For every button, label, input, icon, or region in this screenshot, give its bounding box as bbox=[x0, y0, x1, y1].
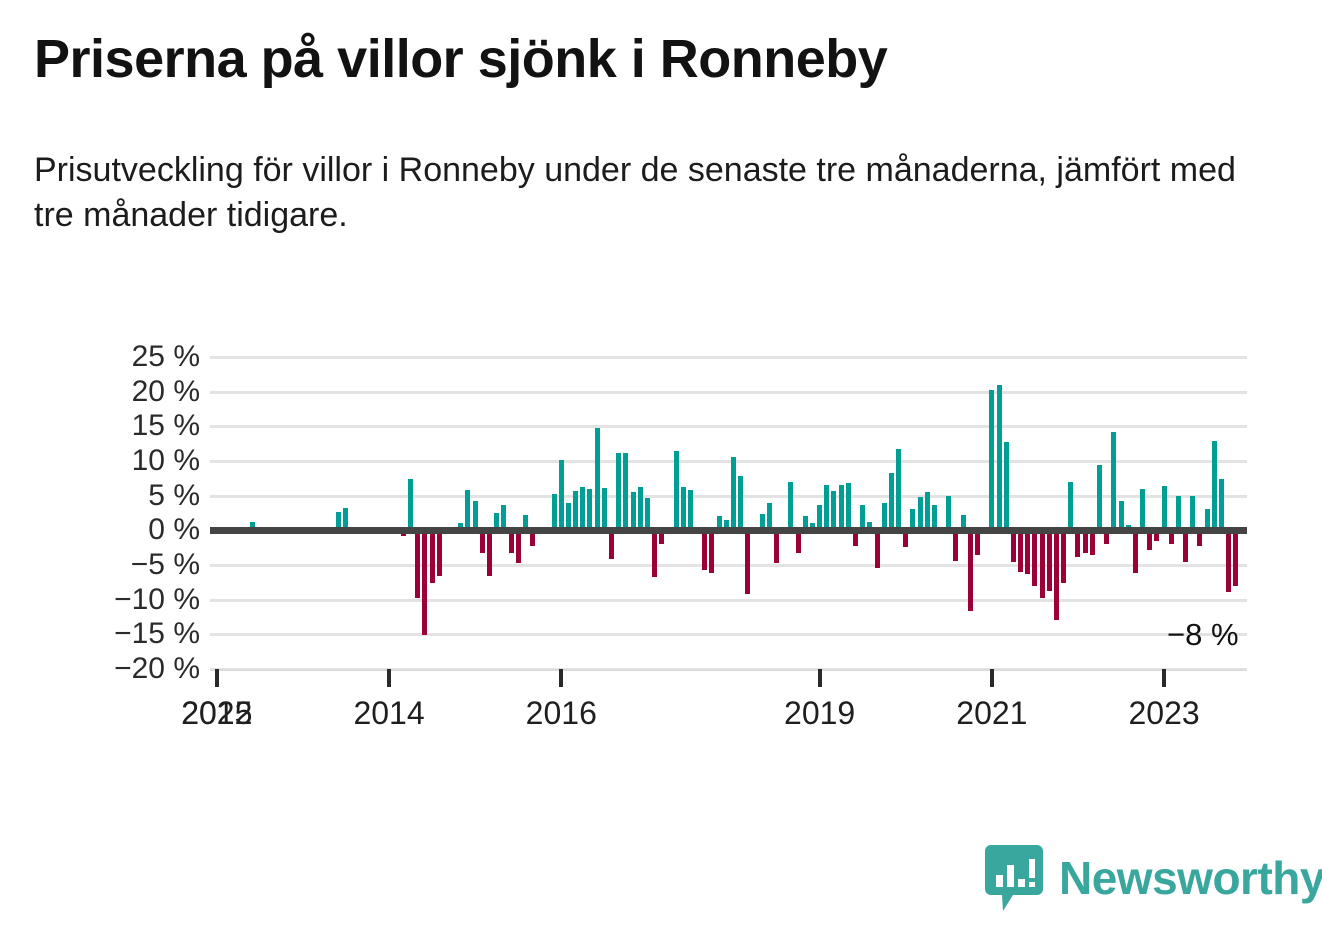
x-axis-tick bbox=[990, 669, 994, 687]
bar bbox=[1040, 530, 1045, 598]
y-axis-tick-label: 15 % bbox=[132, 411, 200, 441]
bar bbox=[674, 451, 679, 531]
bar bbox=[587, 489, 592, 531]
x-axis-tick-label: 2023 bbox=[1129, 695, 1200, 732]
bar bbox=[831, 491, 836, 531]
y-axis-tick-label: 10 % bbox=[132, 446, 200, 476]
bar bbox=[1133, 530, 1138, 572]
bar bbox=[638, 487, 643, 530]
y-axis-tick-label: 0 % bbox=[148, 515, 200, 545]
y-axis-labels: 25 %20 %15 %10 %5 %0 %−5 %−10 %−15 %−20 … bbox=[60, 357, 200, 669]
page-title: Priserna på villor sjönk i Ronneby bbox=[34, 28, 1284, 90]
bar bbox=[623, 453, 628, 531]
bar bbox=[1068, 482, 1073, 531]
logo-wordmark: Newsworthy bbox=[1059, 855, 1322, 901]
bar bbox=[1140, 489, 1145, 530]
chart-container: 25 %20 %15 %10 %5 %0 %−5 %−10 %−15 %−20 … bbox=[0, 340, 1322, 740]
x-axis: 2012201420162019202120232025 bbox=[210, 669, 1247, 671]
bar-series bbox=[210, 357, 1247, 669]
bar bbox=[681, 487, 686, 530]
bar bbox=[953, 530, 958, 561]
bar bbox=[408, 479, 413, 530]
bar bbox=[473, 501, 478, 531]
chart-subtitle: Prisutveckling för villor i Ronneby unde… bbox=[34, 90, 1249, 238]
bar bbox=[430, 530, 435, 583]
bar bbox=[1025, 530, 1030, 574]
bar bbox=[487, 530, 492, 576]
bar bbox=[745, 530, 750, 594]
y-axis-tick-label: 20 % bbox=[132, 377, 200, 407]
bar bbox=[1047, 530, 1052, 590]
bar bbox=[968, 530, 973, 610]
bar bbox=[997, 385, 1002, 531]
bar bbox=[573, 491, 578, 531]
bar bbox=[1226, 530, 1231, 592]
x-axis-tick bbox=[818, 669, 822, 687]
bar bbox=[918, 497, 923, 530]
bar bbox=[465, 490, 470, 530]
bar bbox=[609, 530, 614, 558]
bar bbox=[1011, 530, 1016, 562]
bar bbox=[616, 453, 621, 531]
bar bbox=[946, 496, 951, 531]
x-axis-tick-label: 2019 bbox=[784, 695, 855, 732]
bar bbox=[1212, 441, 1217, 530]
bar bbox=[552, 494, 557, 530]
bar bbox=[422, 530, 427, 635]
bar bbox=[1176, 496, 1181, 531]
x-axis-tick-label: 2014 bbox=[353, 695, 424, 732]
bar bbox=[688, 490, 693, 530]
bar bbox=[566, 503, 571, 531]
bar bbox=[767, 503, 772, 530]
zero-line bbox=[210, 527, 1247, 534]
bar bbox=[1233, 530, 1238, 585]
y-axis-tick-label: −15 % bbox=[114, 619, 200, 649]
bar bbox=[989, 390, 994, 530]
bar bbox=[846, 483, 851, 530]
bar bbox=[1097, 465, 1102, 530]
newsworthy-logo: Newsworthy bbox=[985, 845, 1322, 911]
x-axis-tick bbox=[559, 669, 563, 687]
y-axis-tick-label: −20 % bbox=[114, 654, 200, 684]
bar bbox=[516, 530, 521, 563]
bar bbox=[788, 482, 793, 530]
bar bbox=[1004, 442, 1009, 531]
bar bbox=[702, 530, 707, 570]
bar bbox=[595, 428, 600, 531]
plot-area: −8 % bbox=[210, 357, 1247, 669]
y-axis-tick-label: −10 % bbox=[114, 585, 200, 615]
bar bbox=[731, 457, 736, 530]
x-axis-tick bbox=[215, 669, 219, 687]
bar bbox=[738, 476, 743, 530]
bar bbox=[415, 530, 420, 598]
value-annotation: −8 % bbox=[1167, 617, 1239, 653]
bar bbox=[1119, 501, 1124, 531]
bar bbox=[925, 492, 930, 531]
bar bbox=[437, 530, 442, 576]
bar bbox=[631, 492, 636, 531]
y-axis-tick-label: 5 % bbox=[148, 481, 200, 511]
bar bbox=[580, 487, 585, 530]
y-axis-tick-label: −5 % bbox=[131, 550, 200, 580]
bar bbox=[882, 503, 887, 531]
newsworthy-bar-bubble-icon bbox=[985, 845, 1043, 911]
bar bbox=[875, 530, 880, 568]
y-axis-tick-label: 25 % bbox=[132, 342, 200, 372]
bar bbox=[1018, 530, 1023, 572]
bar bbox=[645, 498, 650, 531]
bar bbox=[602, 488, 607, 530]
bar bbox=[1111, 432, 1116, 530]
bar bbox=[774, 530, 779, 563]
x-axis-tick-label: 2025 bbox=[181, 695, 252, 732]
bar bbox=[1162, 486, 1167, 530]
bar bbox=[896, 449, 901, 531]
bar bbox=[559, 460, 564, 530]
x-axis-tick-label: 2021 bbox=[956, 695, 1027, 732]
bar bbox=[652, 530, 657, 577]
bar bbox=[824, 485, 829, 531]
bar bbox=[1061, 530, 1066, 583]
bar bbox=[839, 485, 844, 530]
x-axis-tick bbox=[1162, 669, 1166, 687]
x-axis-tick-label: 2016 bbox=[526, 695, 597, 732]
bar bbox=[1219, 479, 1224, 530]
x-axis-tick bbox=[387, 669, 391, 687]
bar bbox=[1032, 530, 1037, 586]
bar bbox=[1054, 530, 1059, 619]
bar bbox=[889, 473, 894, 531]
bar bbox=[1190, 496, 1195, 531]
header: Priserna på villor sjönk i Ronneby Prisu… bbox=[34, 28, 1284, 238]
bar bbox=[1183, 530, 1188, 562]
bar bbox=[709, 530, 714, 572]
